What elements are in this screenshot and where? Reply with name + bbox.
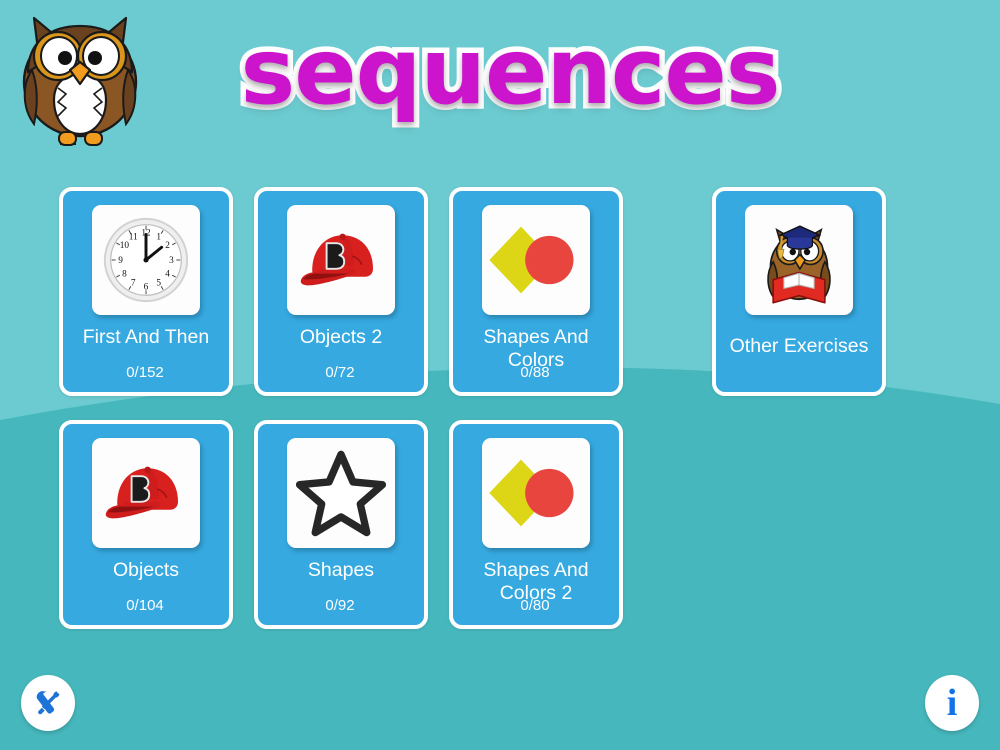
- svg-text:8: 8: [122, 270, 127, 280]
- page-title: sequences: [200, 12, 820, 132]
- card-count: 0/80: [453, 597, 617, 614]
- card-objects[interactable]: Objects 0/104: [59, 420, 233, 629]
- tools-settings-button[interactable]: [21, 675, 75, 731]
- card-count: 0/104: [63, 597, 227, 614]
- card-count: 0/72: [258, 364, 422, 381]
- svg-text:2: 2: [165, 241, 170, 251]
- yellow-diamond-red-circle-icon: [482, 438, 590, 548]
- svg-text:1: 1: [156, 232, 161, 242]
- info-button[interactable]: i: [925, 675, 979, 731]
- star-outline-icon: [287, 438, 395, 548]
- red-baseball-cap-icon: [92, 438, 200, 548]
- info-i-icon: i: [947, 684, 958, 722]
- svg-text:6: 6: [144, 282, 149, 292]
- svg-text:3: 3: [169, 256, 174, 266]
- svg-text:10: 10: [120, 241, 130, 251]
- graduate-owl-reading-icon: [745, 205, 853, 315]
- svg-text:7: 7: [131, 278, 136, 288]
- card-shapes-and-colors[interactable]: Shapes And Colors 0/88: [449, 187, 623, 396]
- svg-text:5: 5: [156, 278, 161, 288]
- card-count: 0/152: [63, 364, 227, 381]
- clock-icon: 1212 345 678 91011: [92, 205, 200, 315]
- card-label: Objects: [64, 559, 228, 582]
- card-shapes-and-colors-2[interactable]: Shapes And Colors 2 0/80: [449, 420, 623, 629]
- yellow-diamond-red-circle-icon: [482, 205, 590, 315]
- card-other-exercises[interactable]: Other Exercises: [712, 187, 886, 396]
- card-objects-2[interactable]: Objects 2 0/72: [254, 187, 428, 396]
- header: sequences: [0, 0, 1000, 160]
- wrench-screwdriver-icon: [33, 688, 63, 718]
- red-baseball-cap-icon: [287, 205, 395, 315]
- card-label: Objects 2: [259, 326, 423, 349]
- card-label: Other Exercises: [717, 335, 881, 358]
- app-root: sequences 1212: [0, 0, 1000, 750]
- card-count: 0/88: [453, 364, 617, 381]
- svg-text:4: 4: [165, 270, 170, 280]
- card-shapes[interactable]: Shapes 0/92: [254, 420, 428, 629]
- svg-text:11: 11: [129, 232, 138, 242]
- card-label: First And Then: [64, 326, 228, 349]
- svg-text:9: 9: [118, 256, 123, 266]
- card-label: Shapes: [259, 559, 423, 582]
- card-count: 0/92: [258, 597, 422, 614]
- owl-logo-icon: [14, 8, 146, 146]
- card-first-and-then[interactable]: 1212 345 678 91011 First And Then 0/152: [59, 187, 233, 396]
